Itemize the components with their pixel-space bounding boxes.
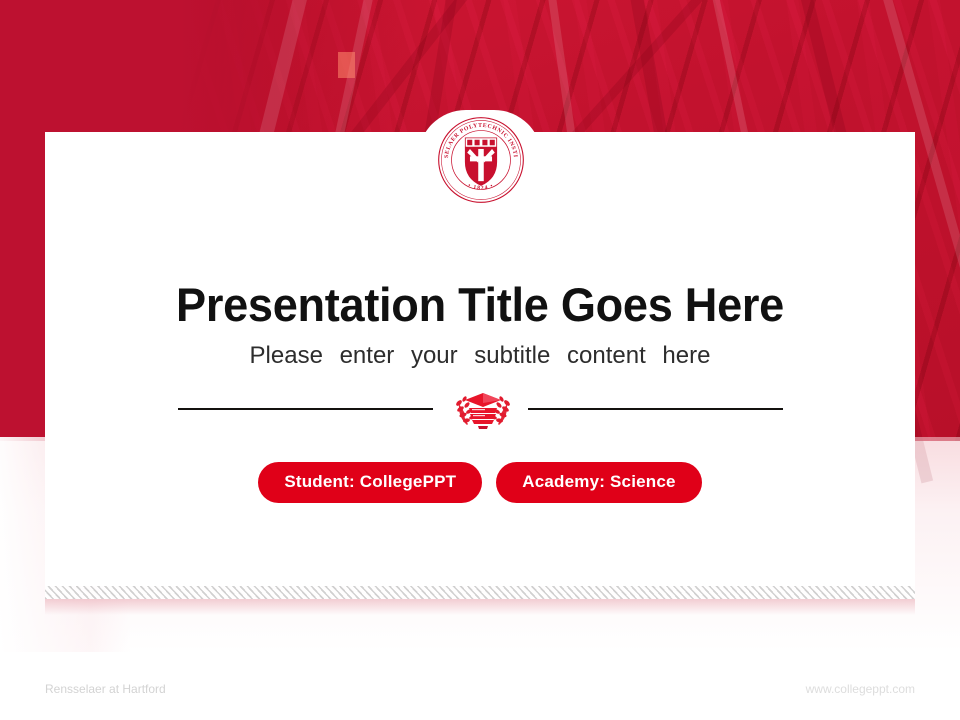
card-drop-shadow bbox=[45, 599, 915, 615]
hatched-accent-strip bbox=[45, 586, 915, 599]
student-tag[interactable]: Student: CollegePPT bbox=[258, 462, 482, 503]
slide-title: Presentation Title Goes Here bbox=[19, 276, 941, 334]
presentation-slide: RENSSELAER POLYTECHNIC INSTITUTE • 1824 … bbox=[0, 0, 960, 720]
academy-tag[interactable]: Academy: Science bbox=[496, 462, 701, 503]
footer-website-label: www.collegeppt.com bbox=[806, 682, 915, 696]
graduation-cap-laurel-icon bbox=[452, 386, 514, 430]
slide-footer: Rensselaer at Hartford www.collegeppt.co… bbox=[0, 682, 960, 702]
footer-institution-label: Rensselaer at Hartford bbox=[45, 682, 166, 696]
hero-sign-marker bbox=[338, 52, 355, 78]
rensselaer-polytechnic-institute-seal: RENSSELAER POLYTECHNIC INSTITUTE • 1824 … bbox=[435, 114, 527, 206]
tag-row: Student: CollegePPT Academy: Science bbox=[0, 462, 960, 503]
slide-subtitle: Please enter your subtitle content here bbox=[0, 340, 960, 372]
divider-line-right bbox=[528, 408, 783, 410]
divider-line-left bbox=[178, 408, 433, 410]
